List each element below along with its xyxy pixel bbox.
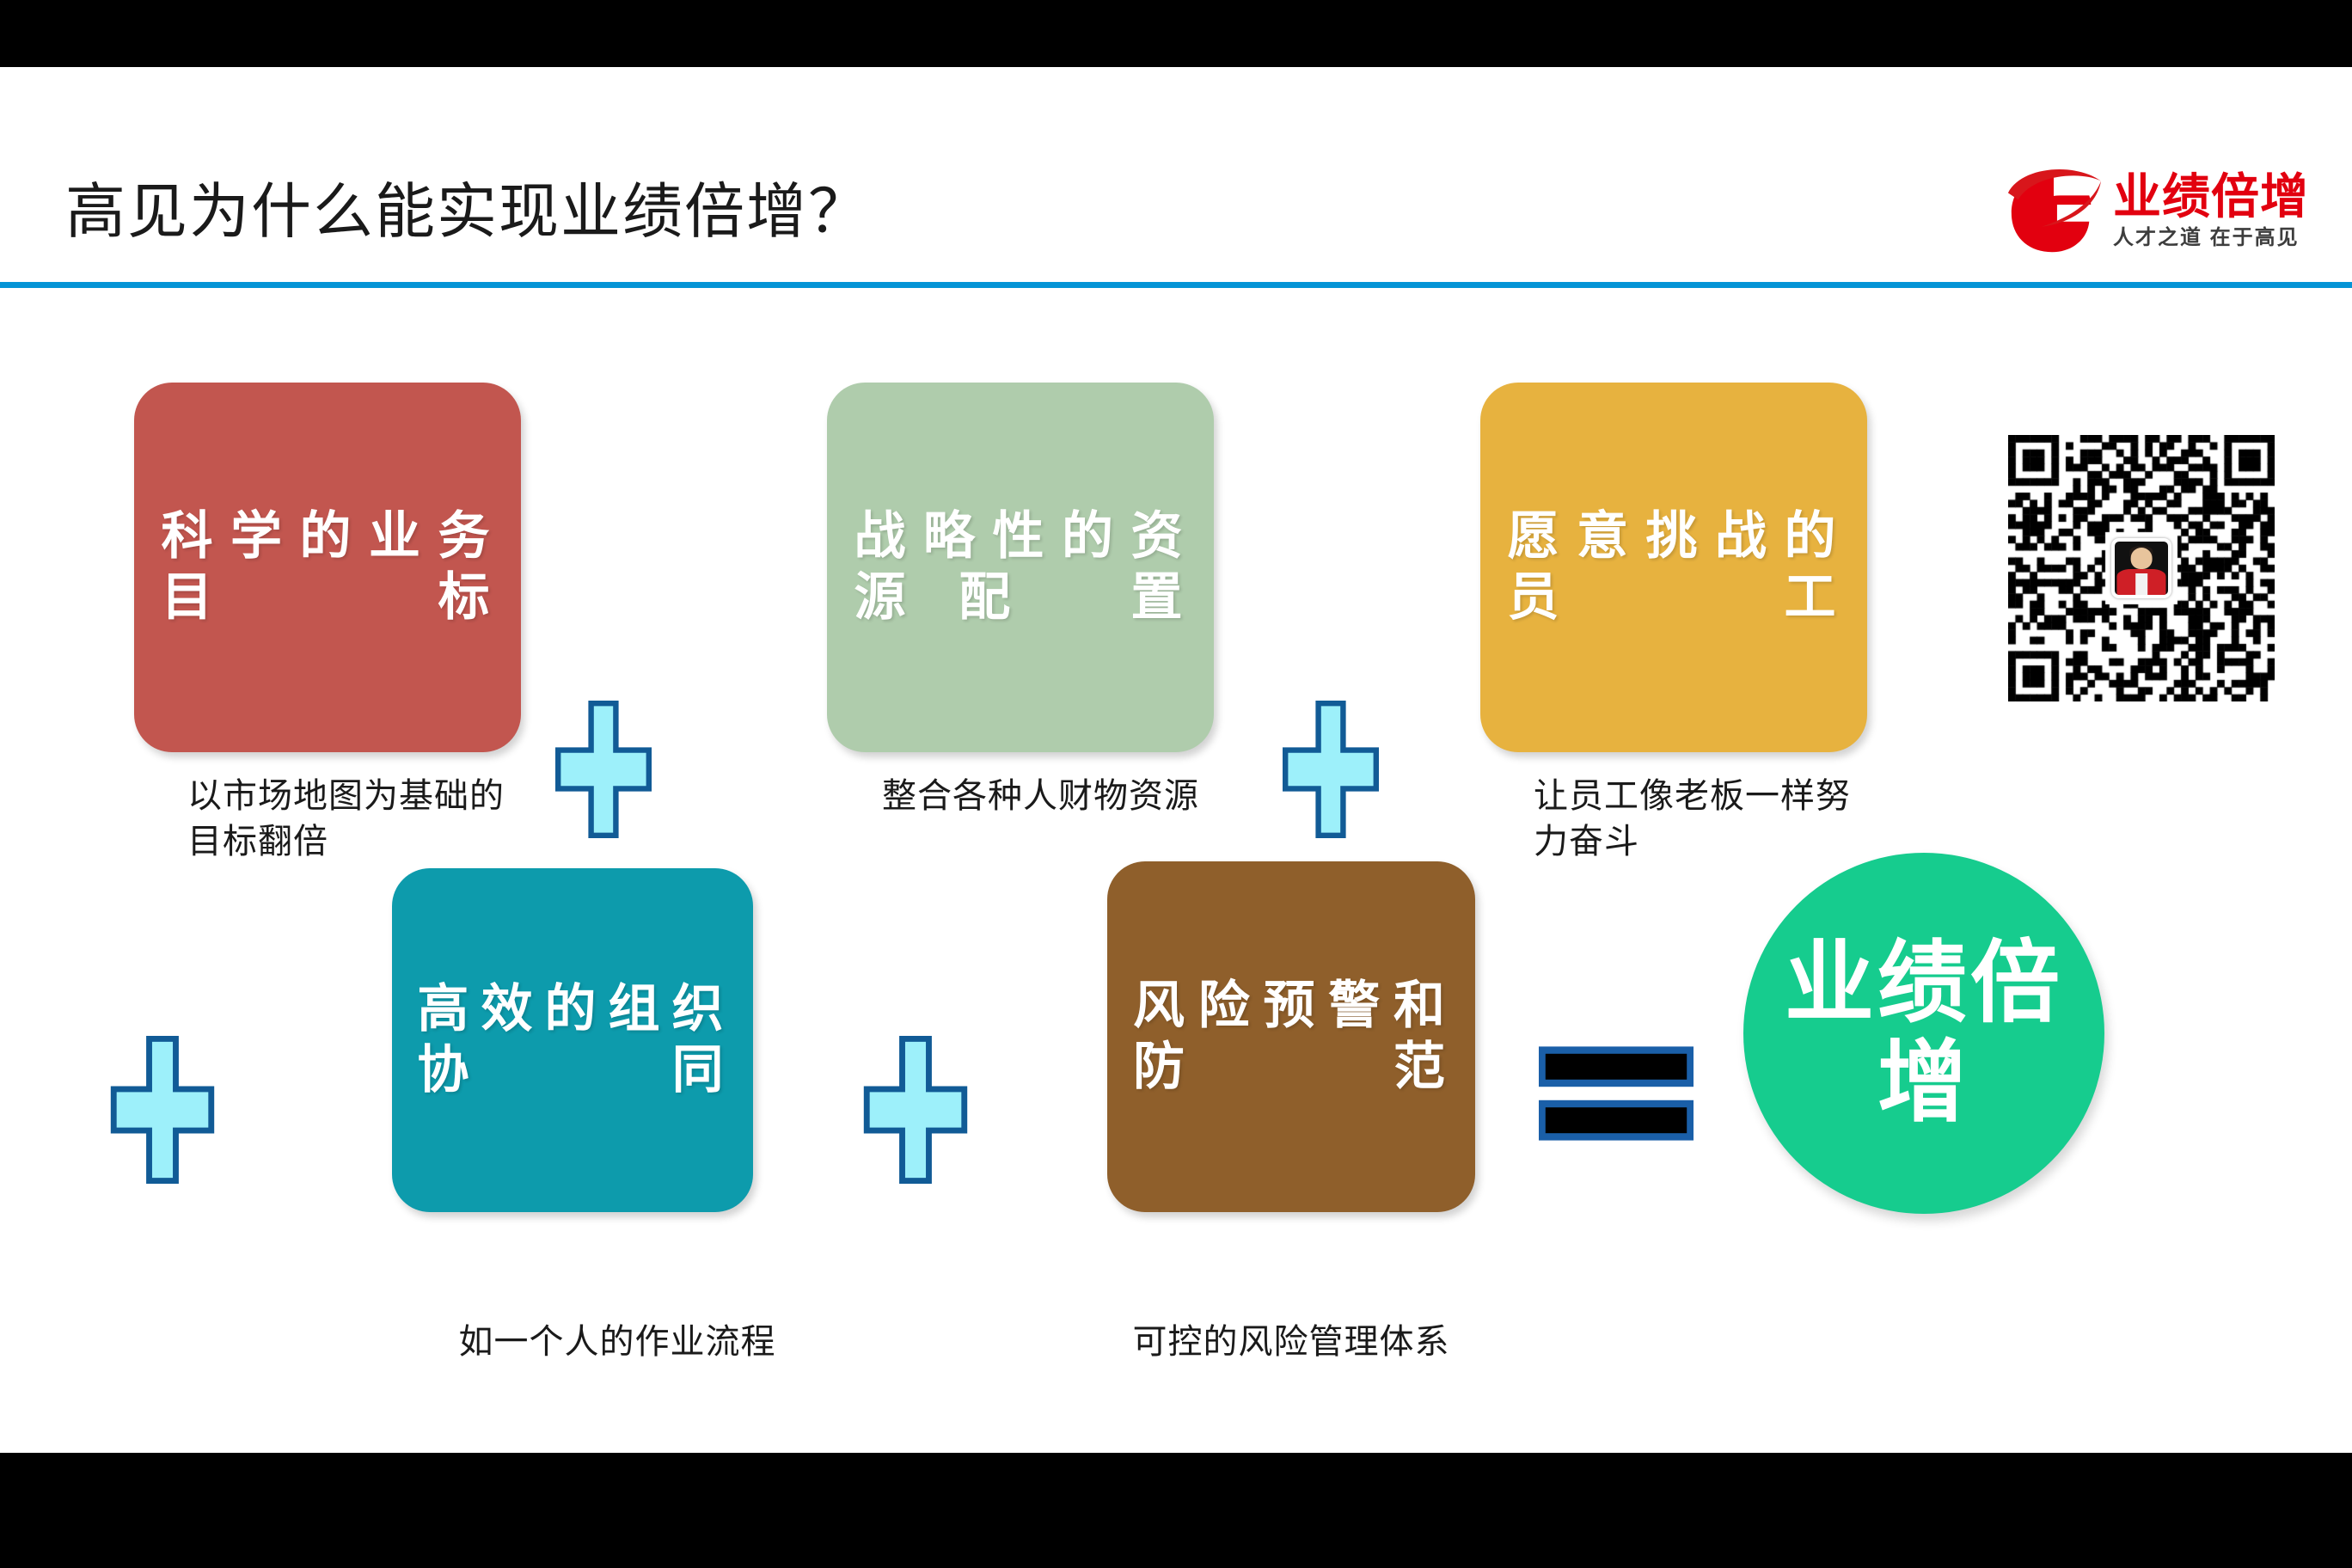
- slide-header: 高见为什么能实现业绩倍增？ 业绩倍增 人才之道 在于高见: [0, 67, 2352, 284]
- card-efficient-org-label: 高效的组织协同: [417, 979, 727, 1101]
- slide-canvas: 高见为什么能实现业绩倍增？ 业绩倍增 人才之道 在于高见 科学的业务目标 以市场…: [0, 67, 2352, 1453]
- plus-icon-3: [110, 1036, 215, 1184]
- card-risk-control-label: 风险预警和防范: [1133, 976, 1449, 1098]
- card-scientific-goal-caption: 以市场地图为基础的目标翻倍: [187, 774, 531, 865]
- card-strategic-resource-caption: 整合各种人财物资源: [882, 774, 1209, 819]
- card-scientific-goal-label: 科学的业务目标: [162, 506, 494, 628]
- plus-icon-4: [863, 1036, 968, 1184]
- equals-icon: [1539, 1042, 1694, 1145]
- wechat-qr-code[interactable]: [2008, 435, 2275, 701]
- card-scientific-goal[interactable]: 科学的业务目标: [134, 383, 521, 752]
- letterbox-top: [0, 0, 2352, 67]
- plus-icon-1: [555, 701, 652, 838]
- card-willing-employee-caption: 让员工像老板一样努力奋斗: [1534, 774, 1860, 865]
- plus-icon-2: [1283, 701, 1379, 838]
- card-risk-control-caption: 可控的风险管理体系: [1050, 1320, 1532, 1365]
- brand-logo: 业绩倍增 人才之道 在于高见: [2003, 156, 2330, 267]
- card-willing-employee[interactable]: 愿意挑战的员工: [1480, 383, 1867, 752]
- letterbox-bottom: [0, 1453, 2352, 1568]
- card-efficient-org-caption: 如一个人的作业流程: [377, 1320, 858, 1365]
- diagram-stage: 科学的业务目标 以市场地图为基础的目标翻倍 战略性的资源配 置 整合各种人财物资…: [0, 284, 2352, 1453]
- logo-tagline: 人才之道 在于高见: [2113, 226, 2309, 251]
- page-title: 高见为什么能实现业绩倍增？: [65, 181, 870, 242]
- card-strategic-resource-label: 战略性的资源配 置: [854, 506, 1187, 628]
- qr-avatar: [2111, 538, 2171, 598]
- g-swoosh-icon: [2003, 161, 2104, 262]
- card-strategic-resource[interactable]: 战略性的资源配 置: [827, 383, 1214, 752]
- result-circle[interactable]: 业绩倍增: [1743, 853, 2104, 1214]
- logo-text-block: 业绩倍增 人才之道 在于高见: [2113, 172, 2309, 251]
- card-risk-control[interactable]: 风险预警和防范: [1107, 861, 1475, 1212]
- logo-name: 业绩倍增: [2113, 172, 2309, 221]
- card-willing-employee-label: 愿意挑战的员工: [1508, 506, 1841, 628]
- result-label: 业绩倍增: [1743, 934, 2104, 1134]
- card-efficient-org[interactable]: 高效的组织协同: [392, 868, 753, 1212]
